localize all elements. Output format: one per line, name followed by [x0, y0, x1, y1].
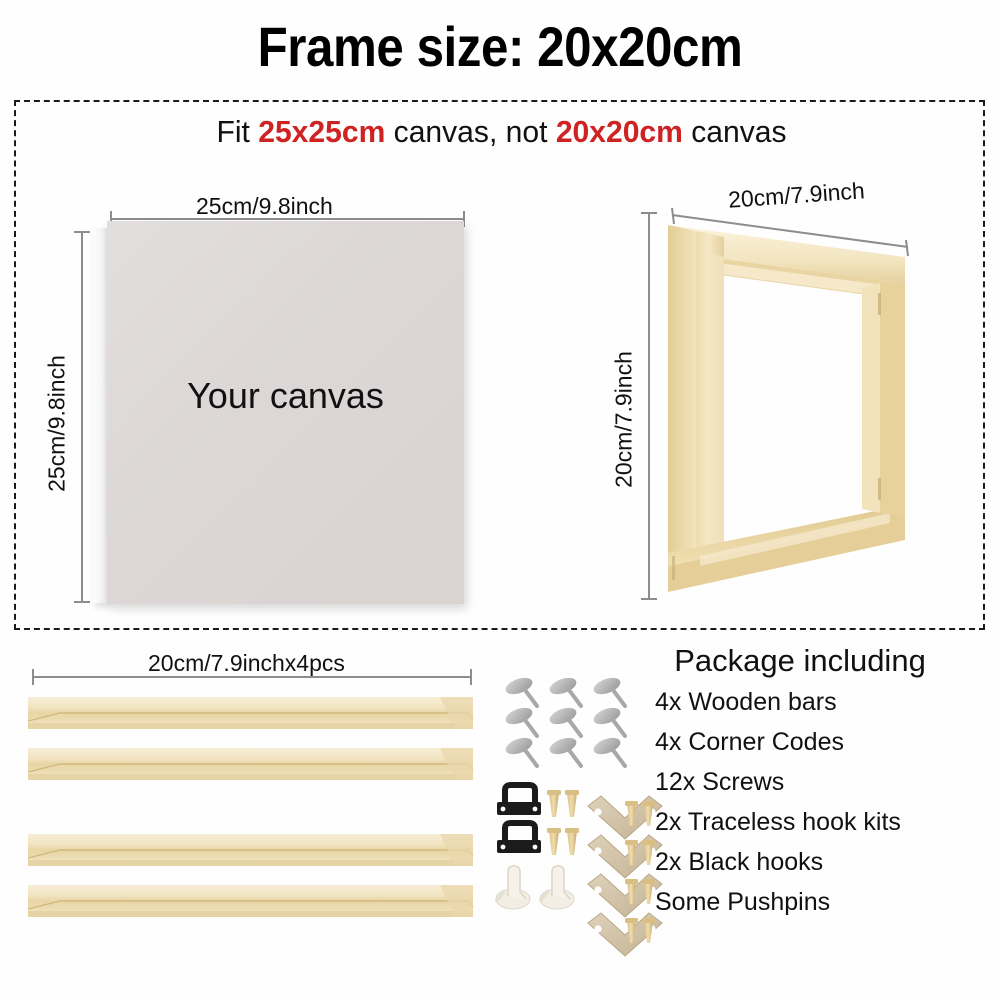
package-item-list: 4x Wooden bars 4x Corner Codes 12x Screw…	[655, 682, 1000, 922]
package-item-label: 4x Corner Codes	[655, 728, 844, 757]
package-item-label: 12x Screws	[655, 768, 784, 797]
bars-dimension-label: 20cm/7.9inchx4pcs	[148, 650, 345, 677]
comparison-subtitle: Fit 25x25cm canvas, not 20x20cm canvas	[31, 114, 973, 150]
corner-bracket-icon	[588, 874, 662, 917]
corner-bracket-icon	[588, 796, 662, 839]
corner-bracket-icon	[588, 913, 662, 956]
gold-screw-icon	[565, 828, 579, 855]
black-hook-icon	[497, 823, 541, 853]
frame-height-label: 20cm/7.9inch	[611, 340, 638, 500]
package-item-label: 4x Wooden bars	[655, 688, 837, 717]
list-item: 4x Wooden bars	[655, 682, 1000, 722]
black-hook-icon	[497, 785, 541, 815]
pushpin-icon	[540, 866, 574, 909]
screws-icon-group	[503, 675, 625, 766]
wooden-bar	[28, 748, 473, 780]
wooden-bar	[28, 834, 473, 866]
list-item: 12x Screws	[655, 762, 1000, 802]
canvas-width-label: 25cm/9.8inch	[196, 193, 333, 220]
package-item-label: Some Pushpins	[655, 888, 830, 917]
canvas-caption: Your canvas	[107, 375, 464, 417]
subtitle-not-size: 20x20cm	[556, 114, 683, 149]
package-title: Package including	[600, 643, 1000, 679]
list-item: 4x Corner Codes	[655, 722, 1000, 762]
product-infographic: Frame size: 20x20cm Fit 25x25cm canvas, …	[0, 0, 1000, 1000]
gold-screw-icon	[547, 790, 561, 817]
list-item: 2x Black hooks	[655, 842, 1000, 882]
gold-screw-icon	[625, 801, 655, 826]
subtitle-middle: canvas, not	[385, 114, 556, 149]
canvas-height-dimension-line	[81, 231, 83, 603]
subtitle-prefix: Fit	[216, 114, 258, 149]
gold-screw-icon	[625, 918, 655, 943]
corner-bracket-icon	[588, 835, 662, 878]
canvas-height-label: 25cm/9.8inch	[44, 344, 71, 504]
wooden-bar	[28, 697, 473, 729]
gold-screw-icon	[565, 790, 579, 817]
page-title: Frame size: 20x20cm	[60, 14, 940, 79]
gold-screw-icon	[547, 828, 561, 855]
gold-screw-icon	[625, 840, 655, 865]
list-item: 2x Traceless hook kits	[655, 802, 1000, 842]
gold-screw-icon	[625, 879, 655, 904]
frame-height-dimension-line	[648, 212, 650, 600]
subtitle-suffix: canvas	[683, 114, 787, 149]
list-item: Some Pushpins	[655, 882, 1000, 922]
subtitle-fit-size: 25x25cm	[258, 114, 385, 149]
package-item-label: 2x Black hooks	[655, 848, 823, 877]
package-item-label: 2x Traceless hook kits	[655, 808, 901, 837]
pushpin-icon	[496, 866, 530, 909]
wooden-bar	[28, 885, 473, 917]
